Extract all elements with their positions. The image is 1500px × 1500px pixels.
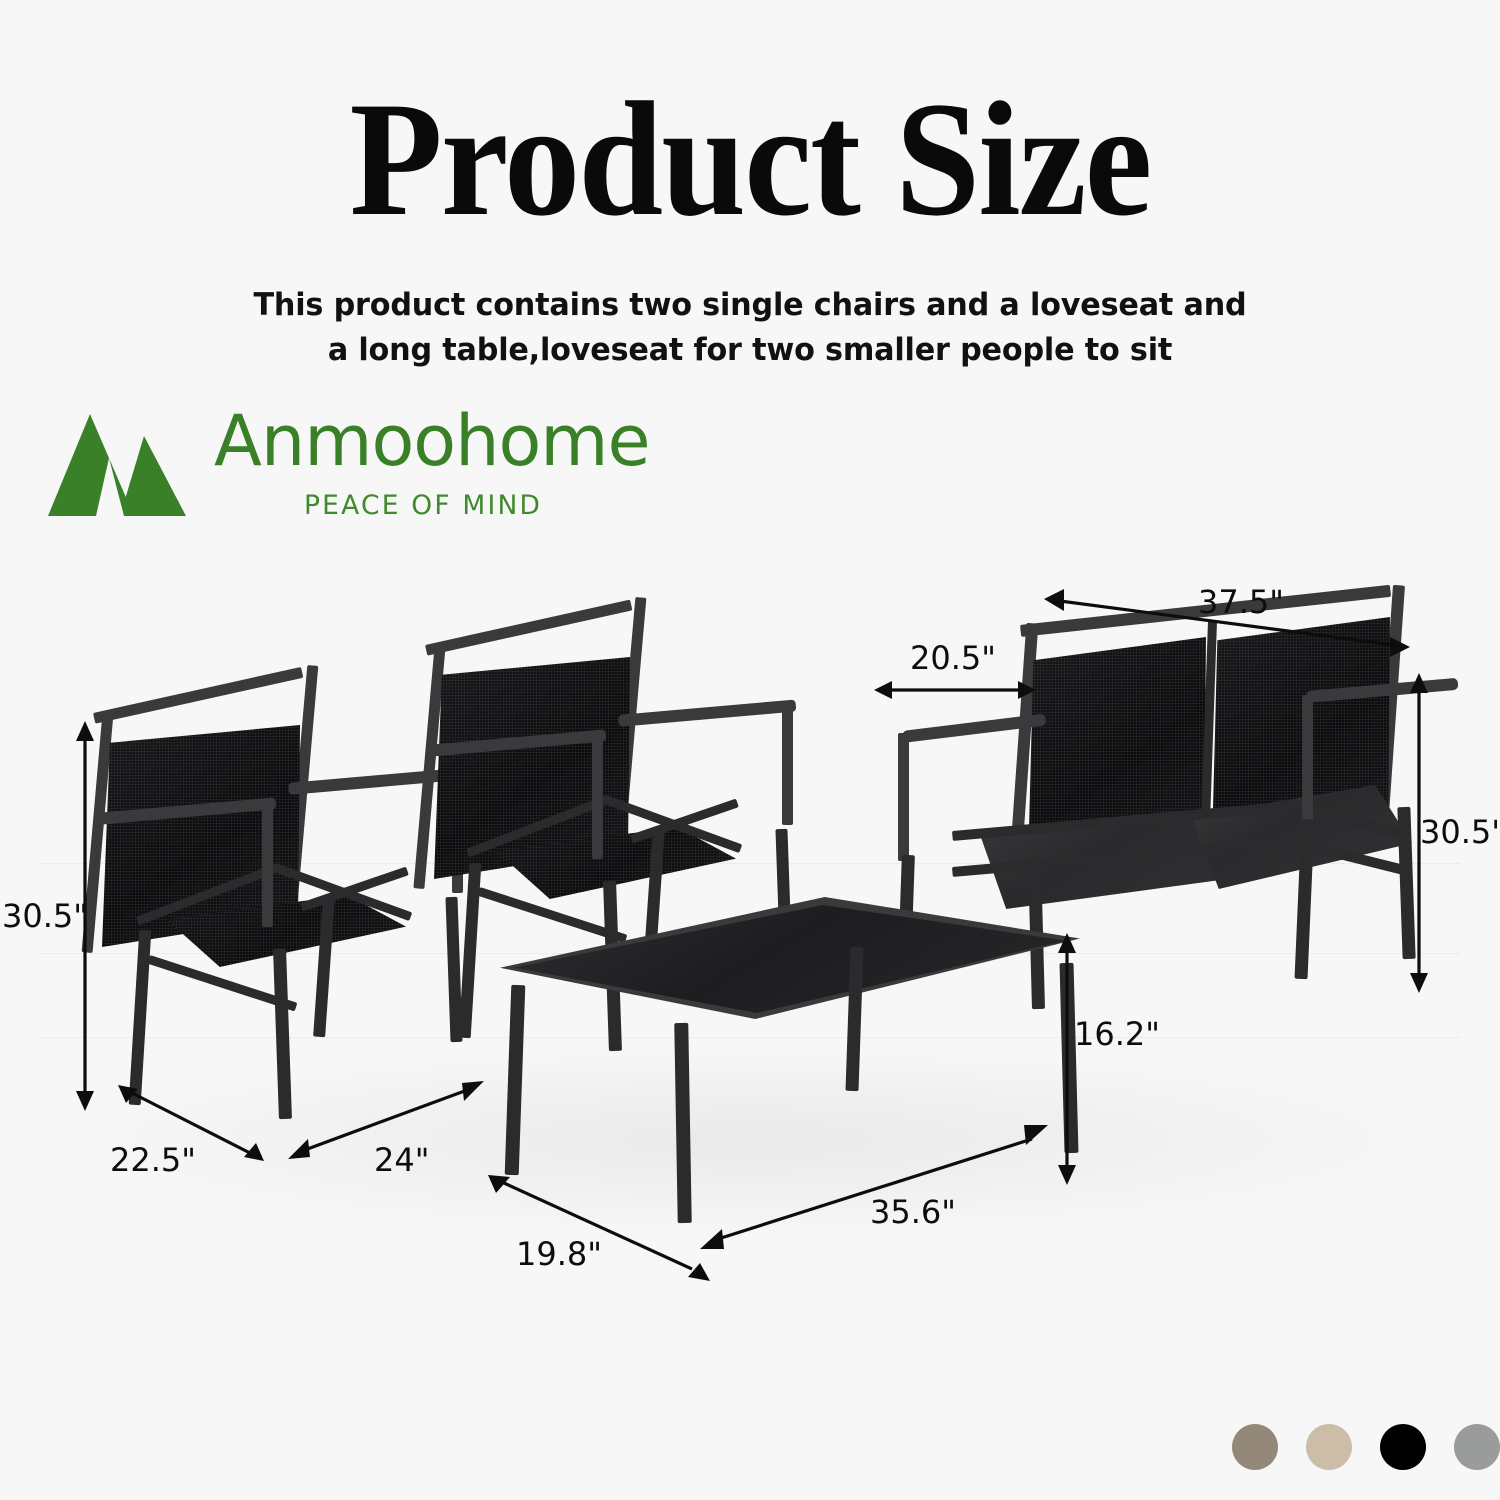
- table-width-arrow: [700, 1125, 1048, 1253]
- color-swatch-list: [1232, 1424, 1500, 1470]
- page-title: Product Size: [53, 78, 1448, 242]
- page-subtitle: This product contains two single chairs …: [30, 283, 1470, 372]
- color-swatch-beige[interactable]: [1306, 1424, 1352, 1470]
- product-scene: 30.5" 22.5" 24" 37.5" 20.5": [0, 545, 1500, 1345]
- brand-name: Anmoohome: [214, 402, 650, 480]
- brand-logo: Anmoohome PEACE OF MIND: [46, 408, 746, 528]
- loveseat-depth-label: 20.5": [910, 639, 996, 677]
- chair-height-label: 30.5": [2, 897, 88, 935]
- subtitle-line-2: a long table,loveseat for two smaller pe…: [30, 328, 1470, 373]
- table-depth-label: 19.8": [516, 1235, 602, 1273]
- chair-width-label: 24": [374, 1141, 429, 1179]
- color-swatch-gray[interactable]: [1454, 1424, 1500, 1470]
- table-width-label: 35.6": [870, 1193, 956, 1231]
- infographic-canvas: Product Size This product contains two s…: [0, 0, 1500, 1500]
- chair-depth-label: 22.5": [110, 1141, 196, 1179]
- floor-line: [40, 1037, 1460, 1038]
- color-swatch-taupe[interactable]: [1232, 1424, 1278, 1470]
- table-height-label: 16.2": [1074, 1015, 1160, 1053]
- mountain-logo-icon: [46, 412, 196, 520]
- loveseat-depth-arrow: [874, 681, 1036, 699]
- color-swatch-black[interactable]: [1380, 1424, 1426, 1470]
- table-height-arrow: [1052, 933, 1082, 1185]
- subtitle-line-1: This product contains two single chairs …: [30, 283, 1470, 328]
- loveseat-width-label: 37.5": [1198, 583, 1284, 621]
- brand-tagline: PEACE OF MIND: [304, 490, 542, 521]
- loveseat-height-label: 30.5": [1420, 813, 1500, 851]
